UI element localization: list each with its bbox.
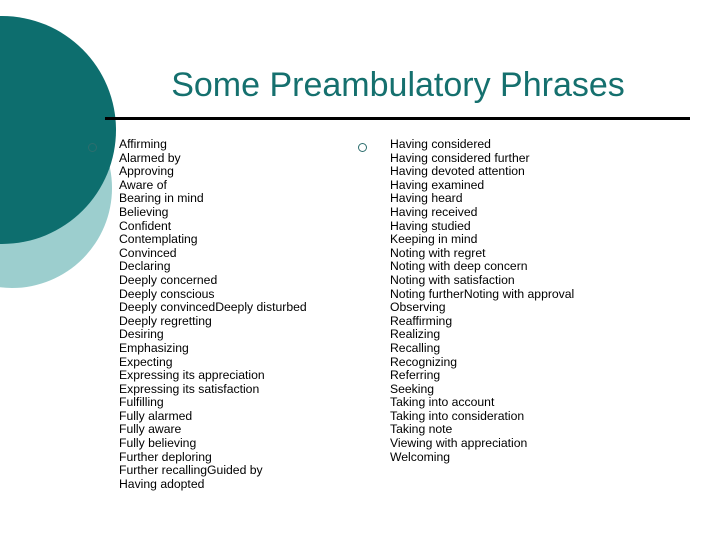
title-divider (105, 117, 690, 120)
list-item: Noting with regret (390, 247, 598, 261)
list-item: Realizing (390, 328, 598, 342)
list-item: Having examined (390, 179, 598, 193)
list-item: Having considered (390, 138, 598, 152)
list-item: Deeply conscious (119, 288, 328, 302)
list-item: Alarmed by (119, 152, 328, 166)
list-item: Fully believing (119, 437, 328, 451)
page-title: Some Preambulatory Phrases (105, 64, 691, 106)
list-item: Viewing with appreciation (390, 437, 598, 451)
phrase-column-left: AffirmingAlarmed byApprovingAware ofBear… (88, 138, 328, 491)
list-item: Taking into consideration (390, 410, 598, 424)
phrase-column-right: Having consideredHaving considered furth… (358, 138, 598, 464)
slide-canvas: Some Preambulatory Phrases AffirmingAlar… (0, 0, 720, 540)
list-item: Deeply convincedDeeply disturbed (119, 301, 328, 315)
list-item: Deeply concerned (119, 274, 328, 288)
hollow-circle-icon (88, 143, 97, 152)
list-item: Seeking (390, 383, 598, 397)
list-item: Reaffirming (390, 315, 598, 329)
list-item: Noting furtherNoting with approval (390, 288, 598, 302)
list-item: Having considered further (390, 152, 598, 166)
list-item: Expecting (119, 356, 328, 370)
list-item: Deeply regretting (119, 315, 328, 329)
list-item: Having adopted (119, 478, 328, 492)
list-item: Bearing in mind (119, 192, 328, 206)
list-item: Fulfilling (119, 396, 328, 410)
list-item: Approving (119, 165, 328, 179)
list-item: Affirming (119, 138, 328, 152)
list-item: Having devoted attention (390, 165, 598, 179)
list-item: Desiring (119, 328, 328, 342)
hollow-circle-icon (358, 143, 367, 152)
list-item: Emphasizing (119, 342, 328, 356)
list-item: Fully aware (119, 423, 328, 437)
list-item: Noting with satisfaction (390, 274, 598, 288)
list-item: Observing (390, 301, 598, 315)
list-item: Referring (390, 369, 598, 383)
list-item: Further recallingGuided by (119, 464, 328, 478)
list-item: Fully alarmed (119, 410, 328, 424)
phrase-list-left: AffirmingAlarmed byApprovingAware ofBear… (119, 138, 328, 491)
list-item: Keeping in mind (390, 233, 598, 247)
list-item: Having heard (390, 192, 598, 206)
list-item: Noting with deep concern (390, 260, 598, 274)
list-item: Recalling (390, 342, 598, 356)
list-item: Confident (119, 220, 328, 234)
list-item: Further deploring (119, 451, 328, 465)
list-item: Expressing its appreciation (119, 369, 328, 383)
list-item: Convinced (119, 247, 328, 261)
list-item: Welcoming (390, 451, 598, 465)
list-item: Contemplating (119, 233, 328, 247)
list-item: Taking into account (390, 396, 598, 410)
phrase-list-right: Having consideredHaving considered furth… (390, 138, 598, 464)
list-item: Aware of (119, 179, 328, 193)
list-item: Expressing its satisfaction (119, 383, 328, 397)
list-item: Believing (119, 206, 328, 220)
list-item: Having studied (390, 220, 598, 234)
list-item: Declaring (119, 260, 328, 274)
list-item: Taking note (390, 423, 598, 437)
list-item: Having received (390, 206, 598, 220)
list-item: Recognizing (390, 356, 598, 370)
